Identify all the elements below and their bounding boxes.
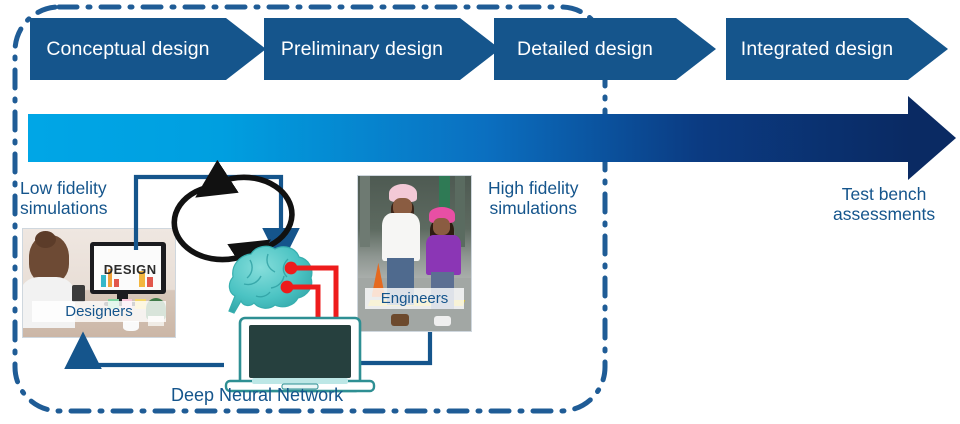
phase-label: Conceptual design	[40, 38, 215, 61]
diagram-canvas: Conceptual design Preliminary design Det…	[0, 0, 960, 424]
chart-bar	[101, 275, 106, 287]
brain-icon	[229, 246, 312, 313]
pipe	[360, 176, 370, 247]
fidelity-bar-arrow-head-icon	[908, 96, 956, 180]
connector-laptop-to-designers	[83, 339, 224, 365]
circular-loop-icon	[174, 177, 292, 259]
arrow-head-icon	[908, 18, 948, 80]
engineer-adult-shirt	[382, 213, 420, 261]
connector-engineers-to-laptop	[323, 332, 430, 363]
chart-bar	[114, 279, 119, 287]
phase-label: Preliminary design	[275, 38, 449, 61]
photo-engineers[interactable]: Engineers	[357, 175, 472, 332]
phase-arrow-integrated[interactable]: Integrated design	[726, 18, 948, 80]
phase-label: Detailed design	[511, 38, 659, 61]
arrow-head-icon	[676, 18, 716, 80]
engineer-child-face	[433, 218, 450, 235]
pen-holder	[72, 285, 86, 302]
electrode-contacts	[281, 262, 343, 337]
phase-label: Integrated design	[735, 38, 899, 61]
label-test-bench: Test bench assessments	[833, 184, 935, 224]
photo-designers[interactable]: DESIGN Designers	[22, 228, 176, 338]
chart-bar	[147, 277, 153, 287]
engineer-child-shirt	[426, 235, 461, 275]
fidelity-gradient-bar	[28, 114, 910, 162]
laptop-icon	[226, 318, 374, 391]
arrow-head-icon	[226, 18, 266, 80]
engineer-adult-boots	[391, 314, 409, 326]
brain-to-laptop-wires	[288, 268, 336, 330]
label-high-fidelity: High fidelity simulations	[488, 178, 578, 218]
screen-text: DESIGN	[104, 262, 157, 277]
monitor-screen: DESIGN	[94, 246, 161, 291]
photo-caption: Engineers	[365, 288, 464, 309]
monitor-icon: DESIGN	[90, 242, 166, 294]
label-low-fidelity: Low fidelity simulations	[20, 178, 108, 218]
phase-arrow-detailed[interactable]: Detailed design	[494, 18, 716, 80]
coffee-cup	[123, 321, 138, 331]
engineer-child-shoes	[434, 316, 451, 327]
label-deep-neural-network: Deep Neural Network	[171, 385, 343, 405]
photo-caption: Designers	[32, 301, 166, 322]
phase-arrow-conceptual[interactable]: Conceptual design	[30, 18, 266, 80]
phase-arrow-preliminary[interactable]: Preliminary design	[264, 18, 500, 80]
